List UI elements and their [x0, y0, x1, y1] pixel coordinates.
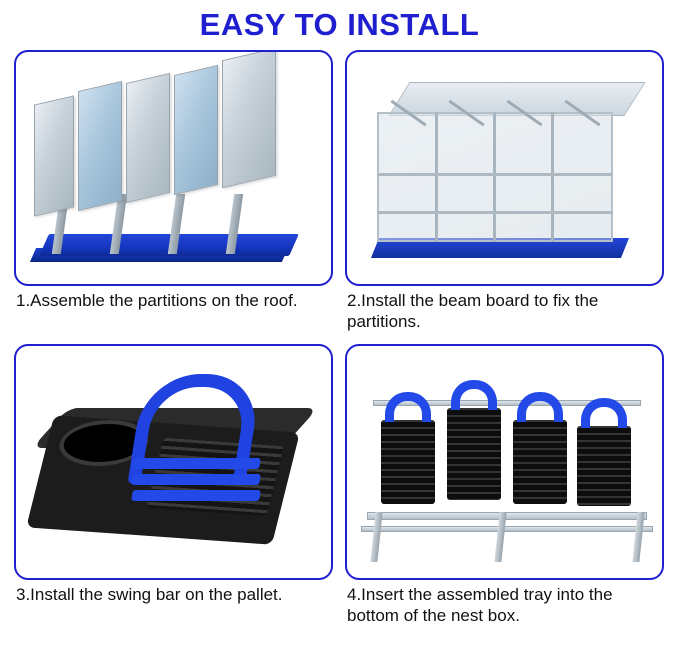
nest-box-rail [367, 512, 647, 520]
partition-panel [34, 95, 74, 216]
partition-panel [78, 81, 122, 211]
nest-box-rail [361, 526, 653, 532]
step-card-4: 4.Insert the assembled tray into the bot… [339, 344, 670, 638]
partition-panel [174, 65, 218, 195]
partition-panel [222, 50, 276, 188]
step-1-image [14, 50, 333, 286]
step-card-3: 3.Install the swing bar on the pallet. [8, 344, 339, 638]
tray-unit [513, 420, 567, 504]
frame-horizontal [377, 173, 613, 176]
beam-board-illustration [347, 52, 662, 284]
page-title: EASY TO INSTALL [0, 0, 679, 42]
partition-panel [126, 73, 170, 203]
step-3-image [14, 344, 333, 580]
swing-bar-pallet-illustration [16, 346, 331, 578]
tray-handle [517, 392, 563, 422]
frame-vertical [551, 112, 554, 242]
step-4-image [345, 344, 664, 580]
frame-vertical [435, 112, 438, 242]
product-instruction-image: EASY TO INSTALL 1.Assemb [0, 0, 679, 652]
tray-unit [381, 420, 435, 504]
nest-box-assembly-illustration [347, 346, 662, 578]
frame-horizontal [377, 211, 613, 214]
step-2-caption: 2.Install the beam board to fix the part… [345, 286, 664, 344]
step-4-caption: 4.Insert the assembled tray into the bot… [345, 580, 664, 638]
tray-unit [447, 408, 501, 500]
step-3-caption: 3.Install the swing bar on the pallet. [14, 580, 333, 638]
beam-board-top [388, 82, 645, 116]
steps-grid: 1.Assemble the partitions on the roof. [8, 50, 671, 638]
swing-bar-rail [131, 474, 261, 485]
partitions-on-roof-illustration [16, 52, 331, 284]
tray-handle [451, 380, 497, 410]
tray-unit [577, 426, 631, 506]
frame-vertical [493, 112, 496, 242]
step-1-caption: 1.Assemble the partitions on the roof. [14, 286, 333, 344]
swing-bar-rail [131, 490, 261, 501]
swing-bar-rail [131, 458, 261, 469]
step-2-image [345, 50, 664, 286]
tray-handle [385, 392, 431, 422]
step-card-1: 1.Assemble the partitions on the roof. [8, 50, 339, 344]
step-card-2: 2.Install the beam board to fix the part… [339, 50, 670, 344]
